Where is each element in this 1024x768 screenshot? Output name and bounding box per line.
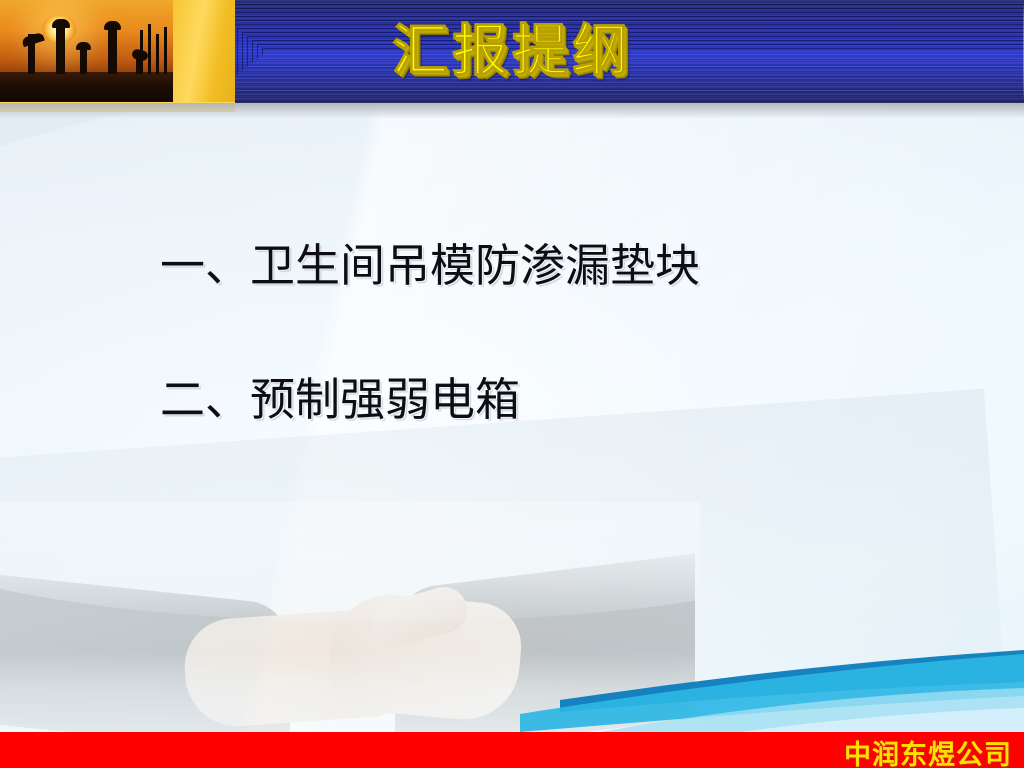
outline-item-2: 二、预制强弱电箱	[160, 372, 980, 428]
outline-list: 一、卫生间吊模防渗漏垫块 二、预制强弱电箱	[160, 238, 980, 429]
slide-header: 汇报提纲	[0, 0, 1024, 105]
header-gray-divider	[0, 103, 1024, 118]
outline-item-1: 一、卫生间吊模防渗漏垫块	[160, 238, 980, 294]
company-name: 中润东煜公司	[844, 733, 1012, 768]
page-title: 汇报提纲	[0, 6, 1024, 87]
footer-bar: 中润东煜公司	[0, 732, 1024, 768]
presentation-slide: 汇报提纲	[0, 0, 1024, 768]
